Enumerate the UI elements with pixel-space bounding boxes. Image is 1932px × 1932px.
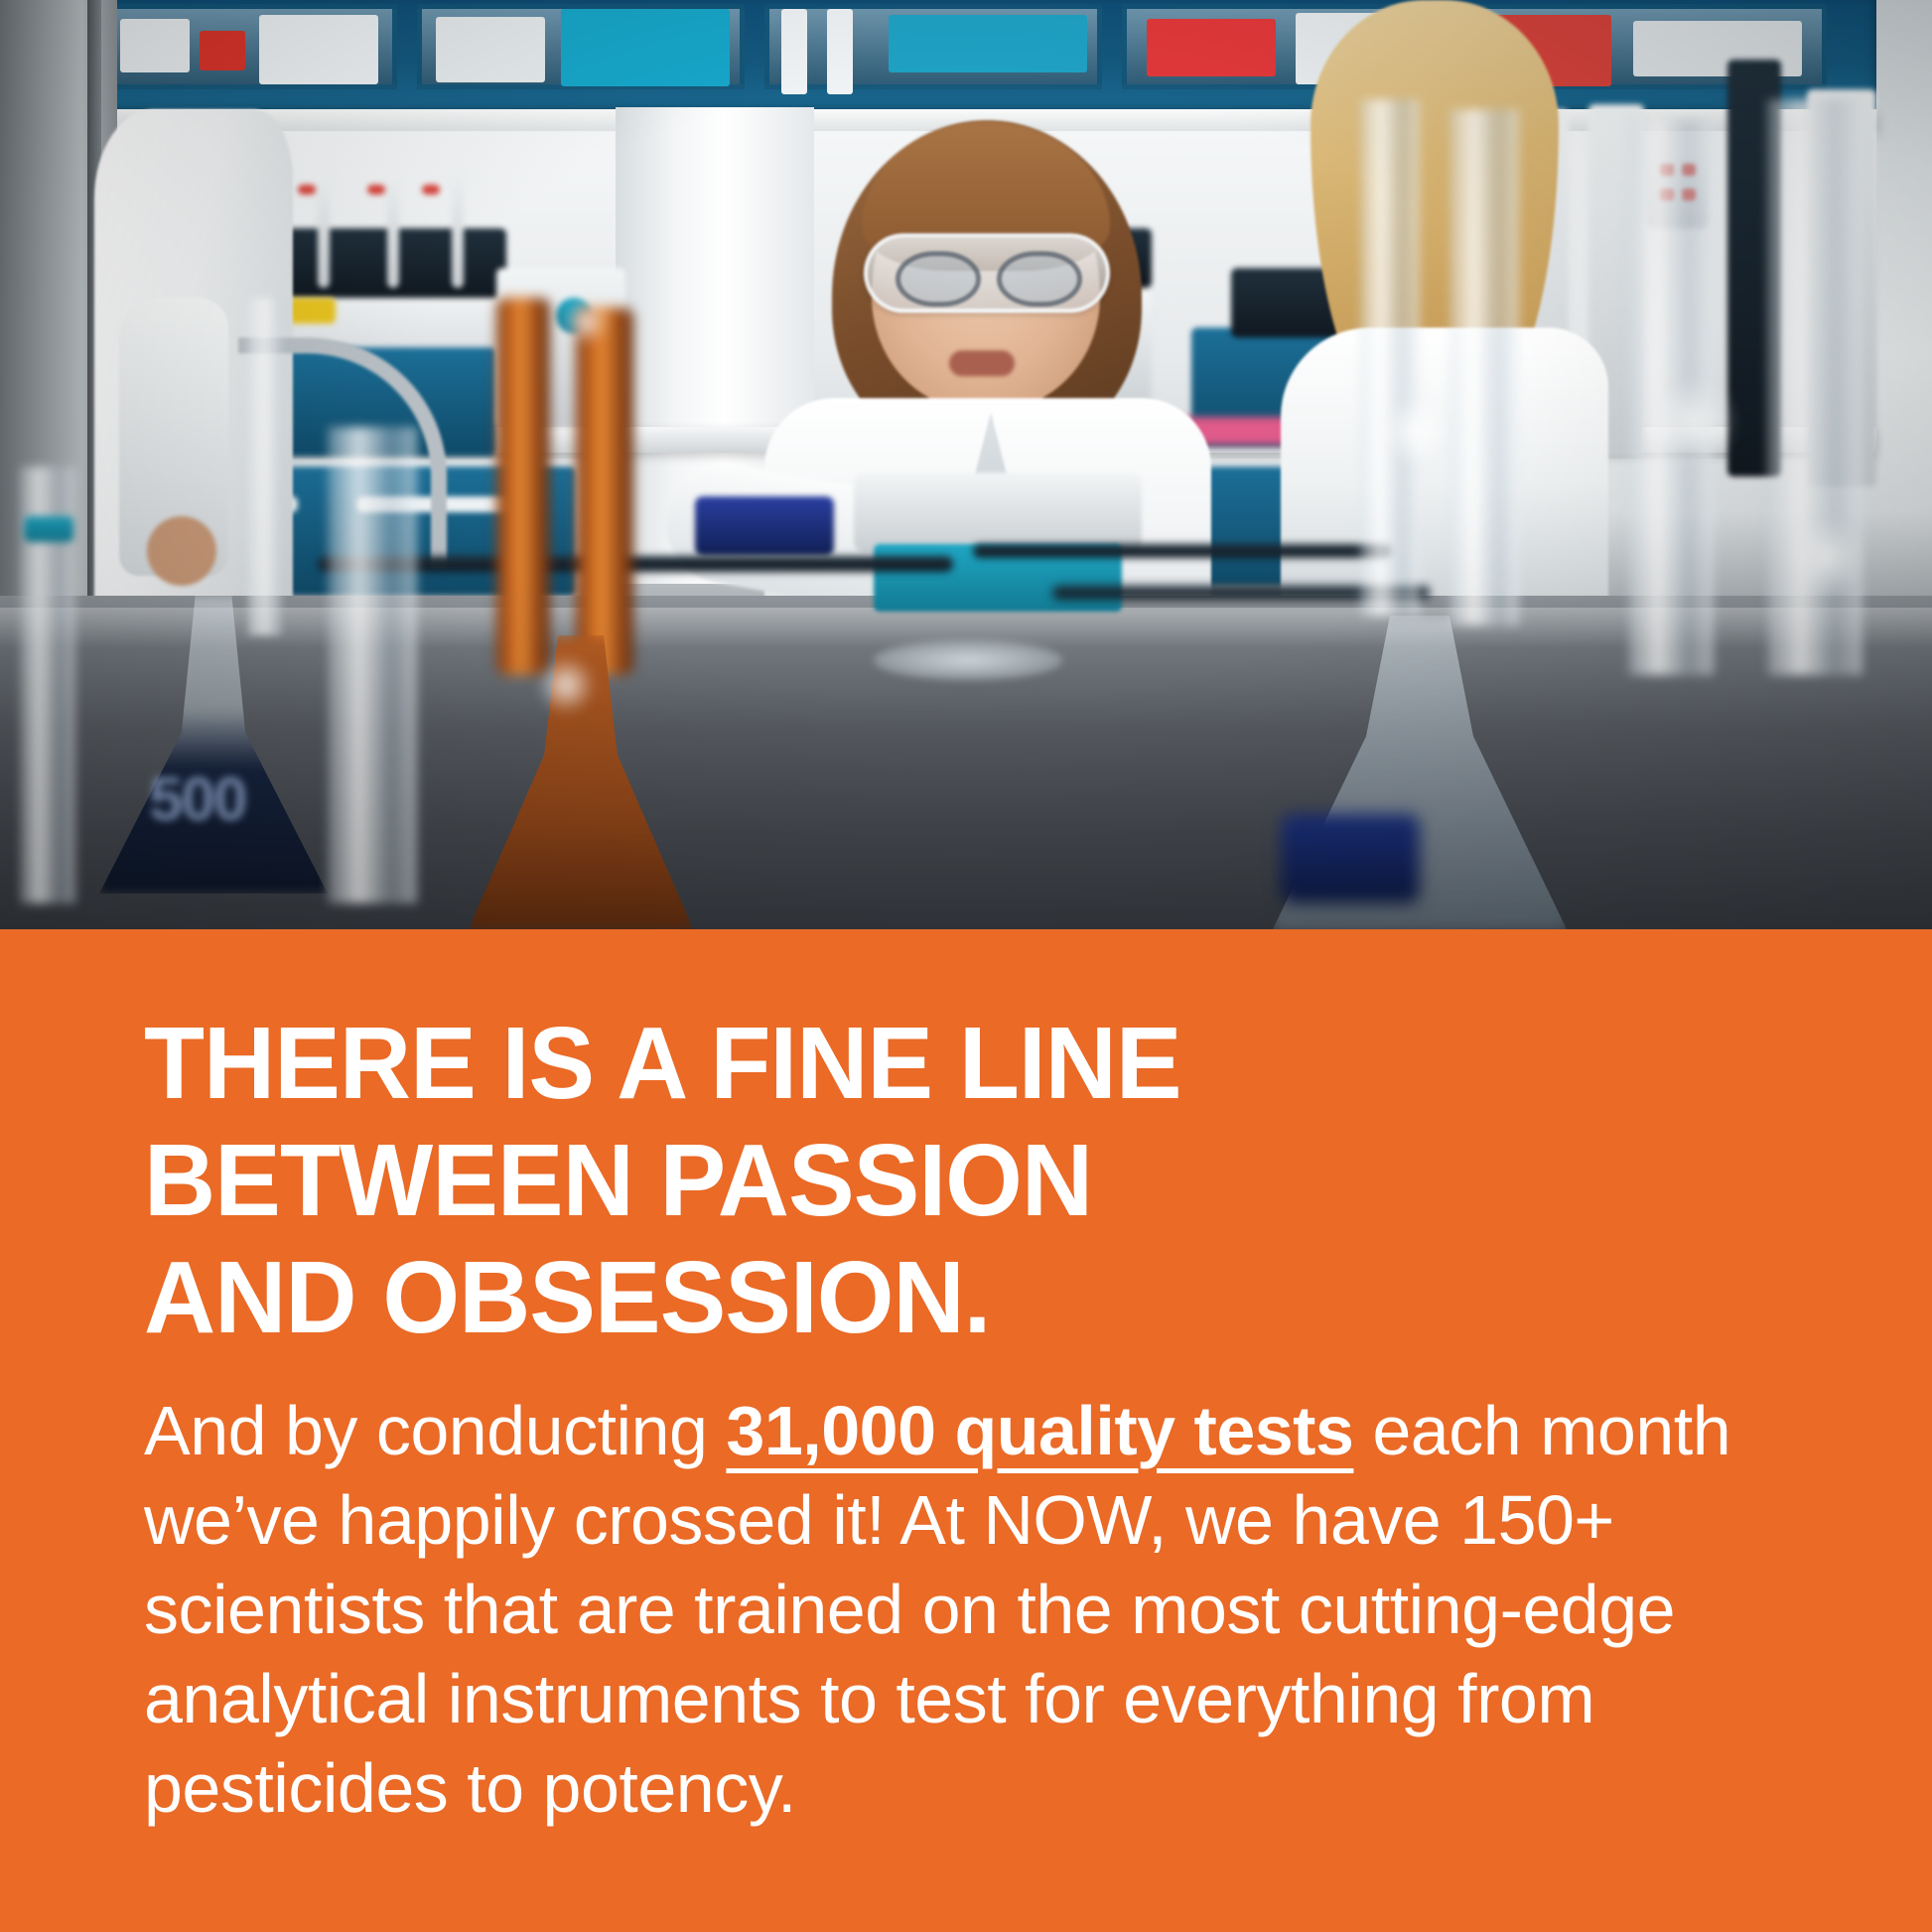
test-tube [318, 174, 330, 288]
glassware [1360, 99, 1420, 616]
cabinet-pane [417, 4, 745, 89]
flask-volume-label: 500 [149, 764, 278, 842]
body-text-before: And by conducting [144, 1392, 726, 1469]
lab-photo-scene: 500 [0, 0, 1932, 929]
amber-glassware [496, 298, 550, 675]
headline-line-2: BETWEEN PASSION [144, 1122, 1781, 1239]
lab-photo: 500 [0, 0, 1932, 929]
bokeh-highlight [1787, 516, 1866, 596]
cabinet-contents [120, 19, 190, 72]
amber-glassware [576, 308, 633, 675]
flask-blue-liquid [695, 496, 834, 556]
bokeh-highlight [536, 655, 596, 715]
cabinet-contents [200, 31, 245, 70]
headline-line-3: AND OBSESSION. [144, 1239, 1781, 1356]
watch-glass [874, 640, 1062, 680]
cabinet-contents [561, 9, 730, 86]
goggle-lens-left [896, 251, 981, 307]
flask-neck [248, 298, 282, 635]
headline-line-1: THERE IS A FINE LINE [144, 1005, 1781, 1122]
test-tube [387, 174, 399, 288]
cabinet-contents [827, 9, 853, 94]
scientist-left-hand [147, 516, 216, 586]
page-headline: THERE IS A FINE LINE BETWEEN PASSION AND… [144, 1005, 1781, 1356]
quality-tests-highlight: 31,000 quality tests [726, 1392, 1353, 1469]
marketing-poster: 500 THERE IS A FINE LINE BETWEEN PASSION… [0, 0, 1932, 1932]
cabinet-contents [436, 17, 545, 82]
cabinet-contents [1147, 19, 1276, 76]
analytical-balance [854, 473, 1142, 552]
tube-cap [367, 185, 385, 195]
goggle-lens-right [997, 251, 1082, 307]
bokeh-highlight [562, 298, 610, 345]
test-tube [452, 169, 464, 288]
power-cable [973, 544, 1390, 558]
bokeh-highlight [1380, 397, 1449, 467]
tube-cap [298, 185, 316, 195]
cabinet-pane [764, 4, 1102, 89]
mouth [949, 350, 1015, 376]
bokeh-highlight [1648, 377, 1737, 467]
blue-reagent [1281, 814, 1420, 903]
cylinder-band [24, 516, 73, 542]
tube-cap [422, 185, 440, 195]
glassware [1449, 109, 1519, 625]
body-paragraph: And by conducting 31,000 quality tests e… [144, 1386, 1822, 1833]
glassware [328, 427, 417, 903]
cabinet-contents [259, 15, 378, 84]
cabinet-pane [99, 4, 397, 89]
cabinet-contents [889, 15, 1087, 72]
safety-goggles [864, 233, 1110, 313]
lab-coat [1281, 328, 1608, 616]
cabinet-contents [781, 9, 807, 94]
